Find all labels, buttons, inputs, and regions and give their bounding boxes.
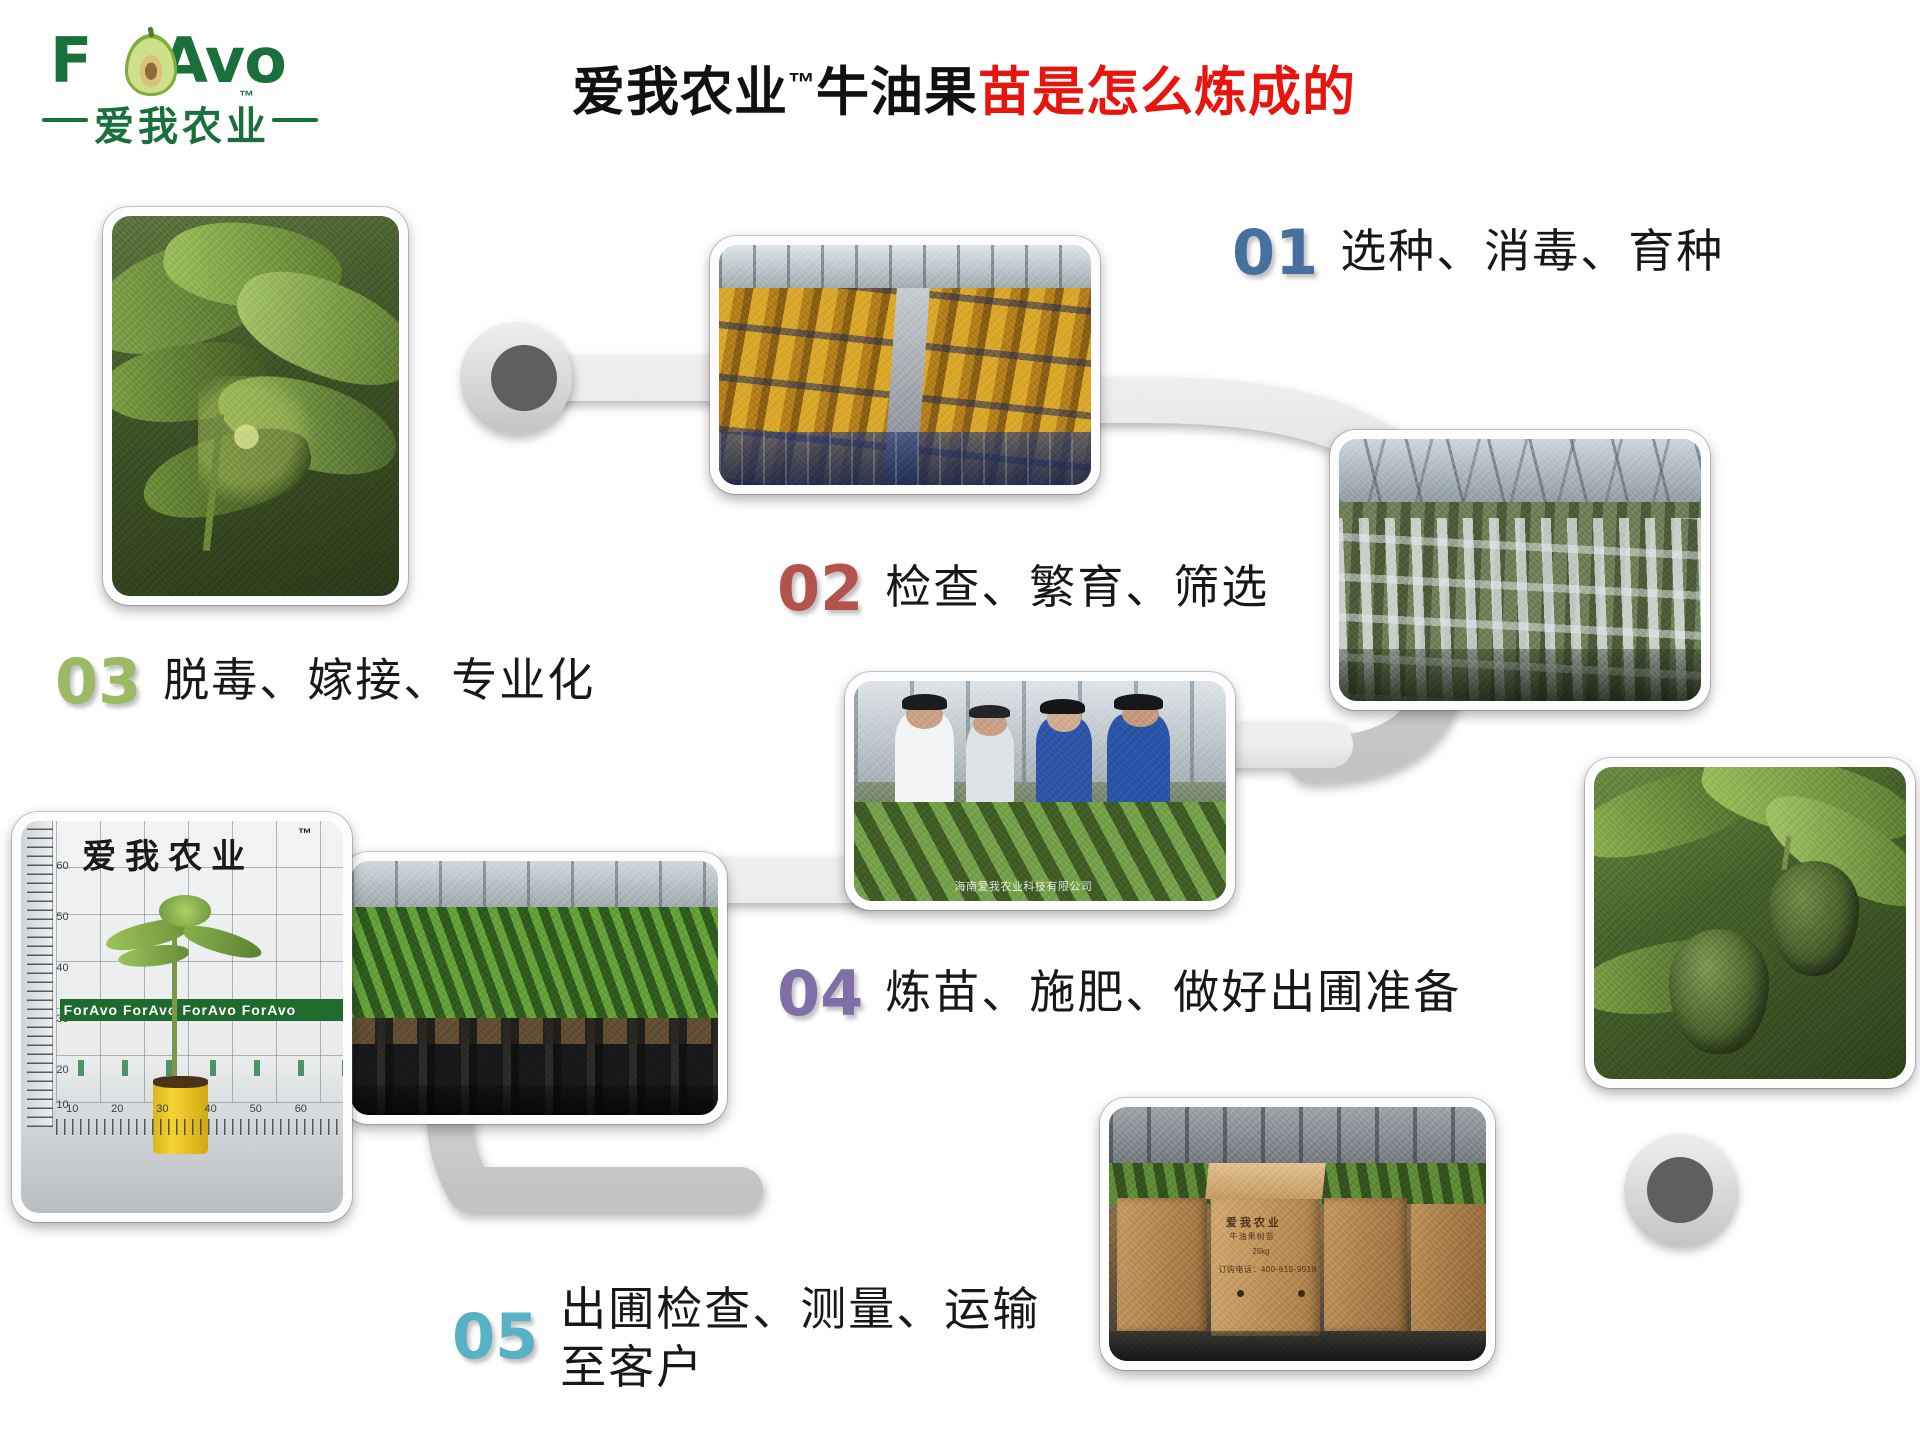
photo-seed-trays: [710, 236, 1100, 494]
step-04-number: 04: [777, 963, 863, 1025]
step-02-number: 02: [777, 558, 863, 620]
title-black-1: 爱我农业: [572, 63, 788, 122]
photo-greenhouse-grafting: [1330, 430, 1710, 710]
step-03-number: 03: [55, 651, 141, 713]
v-tick-60: 60: [56, 860, 68, 872]
photo-watermark: 海南爱我农业科技有限公司: [954, 878, 1092, 894]
flow-end-node: [1624, 1134, 1736, 1246]
step-03: 03 脱毒、嫁接、专业化: [55, 651, 595, 713]
board-title-tm: ™: [298, 825, 312, 841]
h-tick-60: 60: [295, 1103, 307, 1115]
page-title: 爱我农业™牛油果苗是怎么炼成的: [572, 50, 1572, 126]
v-tick-40: 40: [56, 962, 68, 974]
v-tick-50: 50: [56, 911, 68, 923]
logo-word-pre: F: [50, 24, 89, 97]
brand-logo: ForAvo 爱我农业 ™: [42, 30, 322, 152]
photo-flowering-branch: [103, 207, 408, 605]
h-tick-10: 10: [66, 1103, 78, 1115]
step-01-text: 选种、消毒、育种: [1340, 222, 1724, 280]
step-05-number: 05: [452, 1306, 538, 1368]
photo-shipping-boxes: 爱我农业 牛油果树苗 25kg 订购电话：400-615-9918: [1100, 1098, 1495, 1370]
box-brand: 爱我农业: [1226, 1214, 1282, 1230]
step-01-number: 01: [1232, 222, 1318, 284]
foravo-band: ForAvo ForAvo ForAvo ForAvo: [60, 999, 343, 1021]
photo-avocado-fruit: [1585, 758, 1915, 1088]
photo-inspection-team: 海南爱我农业科技有限公司: [845, 672, 1235, 910]
step-03-text: 脱毒、嫁接、专业化: [163, 651, 595, 709]
step-05-text: 出圃检查、测量、运输 至客户: [560, 1280, 1040, 1396]
photo-potted-seedlings: [342, 852, 727, 1124]
title-red: 苗是怎么炼成的: [978, 63, 1356, 122]
infographic-canvas: ForAvo 爱我农业 ™ 爱我农业™牛油果苗是怎么炼成的: [0, 0, 1920, 1440]
step-01: 01 选种、消毒、育种: [1232, 222, 1724, 284]
step-05-text-line1: 出圃检查、测量、运输: [560, 1280, 1040, 1338]
step-04-text: 炼苗、施肥、做好出圃准备: [885, 963, 1461, 1021]
board-title: 爱我农业: [82, 829, 254, 878]
box-weight: 25kg: [1252, 1247, 1269, 1256]
title-black-2: 牛油果: [816, 63, 978, 122]
title-trademark: ™: [788, 67, 816, 97]
h-tick-20: 20: [111, 1103, 123, 1115]
logo-rule-left: [42, 118, 88, 122]
step-05: 05 出圃检查、测量、运输 至客户: [452, 1280, 1040, 1396]
box-phone: 订购电话：400-615-9918: [1218, 1264, 1316, 1275]
h-tick-30: 30: [156, 1103, 168, 1115]
logo-trademark-symbol: ™: [239, 88, 254, 105]
step-02: 02 检查、繁育、筛选: [777, 558, 1269, 620]
h-tick-40: 40: [205, 1103, 217, 1115]
step-04: 04 炼苗、施肥、做好出圃准备: [777, 963, 1461, 1025]
box-sub: 牛油果树苗: [1230, 1231, 1275, 1242]
h-tick-50: 50: [250, 1103, 262, 1115]
photo-measuring-board: 爱我农业 ™ 60 50 40 30 20 10 ForAvo ForAvo F…: [12, 812, 352, 1222]
step-02-text: 检查、繁育、筛选: [885, 558, 1269, 616]
logo-rule-right: [272, 118, 318, 122]
flow-start-node: [460, 322, 572, 434]
step-05-text-line2: 至客户: [560, 1338, 1040, 1396]
